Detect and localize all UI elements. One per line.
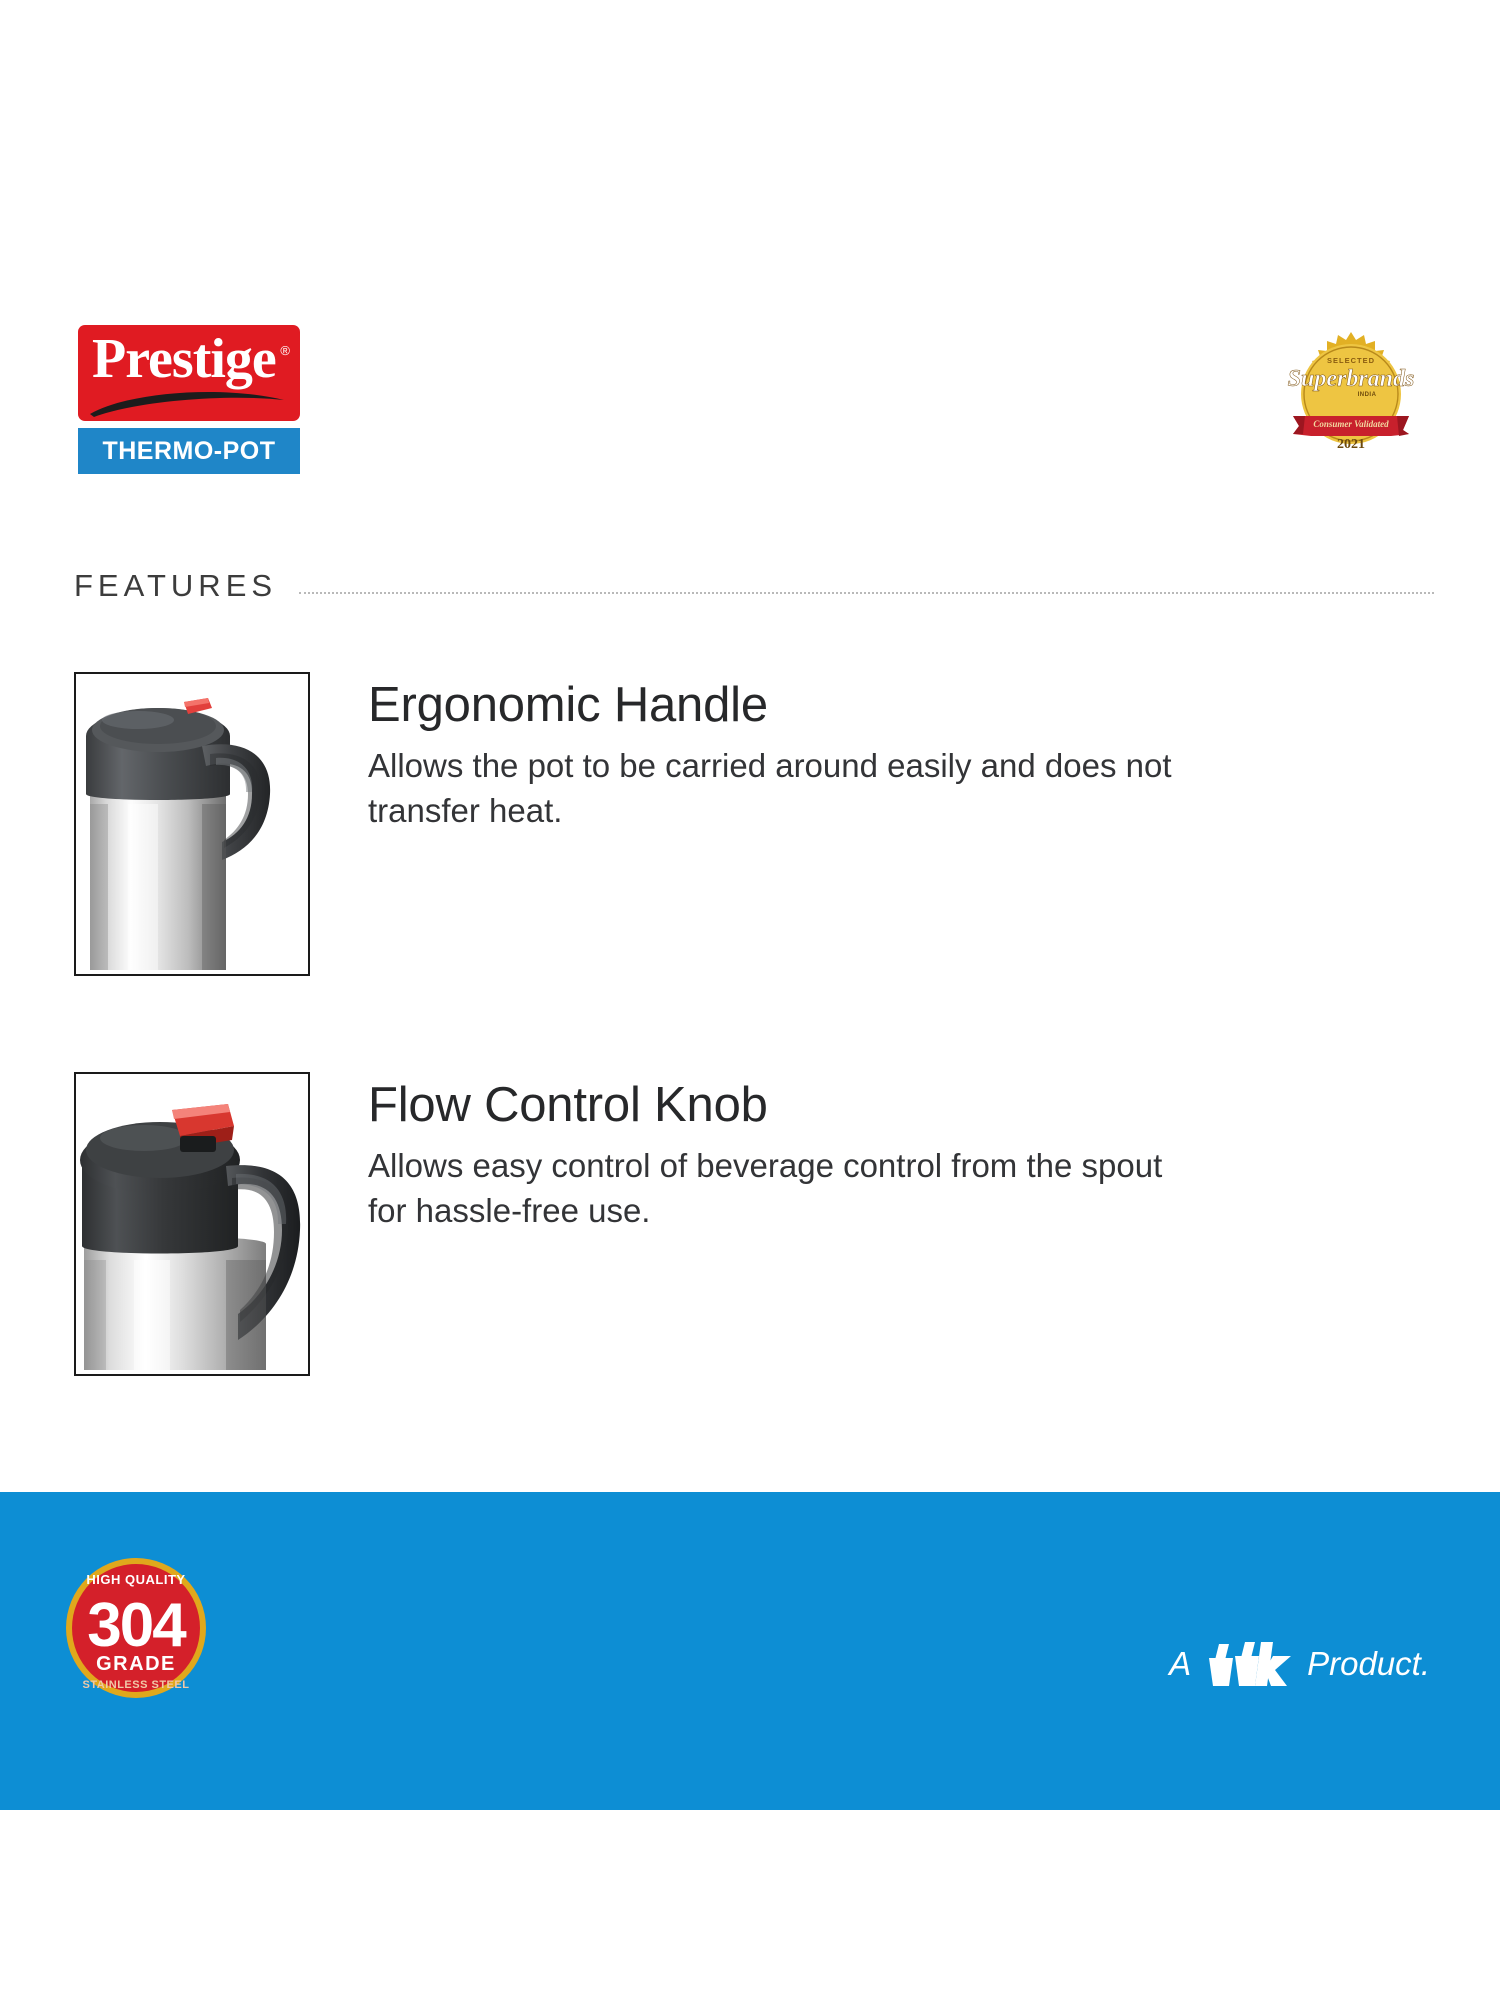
svg-text:INDIA: INDIA <box>1358 392 1377 398</box>
credit-prefix: A <box>1169 1645 1191 1683</box>
svg-text:2021: 2021 <box>1337 437 1365 452</box>
brand-sub-label: THERMO-POT <box>102 437 275 466</box>
svg-text:Superbrands: Superbrands <box>1288 366 1415 392</box>
features-title: FEATURES <box>74 568 277 604</box>
brand-wordmark: Prestige <box>92 331 276 387</box>
svg-text:Consumer Validated: Consumer Validated <box>1313 419 1389 429</box>
svg-text:HIGH QUALITY: HIGH QUALITY <box>86 1572 185 1587</box>
feature-heading: Ergonomic Handle <box>368 678 1198 733</box>
svg-text:SELECTED: SELECTED <box>1327 356 1375 365</box>
brand-swoosh-icon <box>88 384 288 418</box>
svg-text:STAINLESS STEEL: STAINLESS STEEL <box>83 1679 190 1691</box>
footer-band: HIGH QUALITY 304 GRADE STAINLESS STEEL A… <box>0 1492 1500 1810</box>
ttk-product-credit: A Product. <box>1169 1640 1430 1688</box>
features-divider <box>299 592 1434 594</box>
feature-image-ergonomic-handle <box>74 672 310 976</box>
features-section-header: FEATURES <box>74 568 1434 604</box>
feature-text-block: Ergonomic Handle Allows the pot to be ca… <box>368 672 1198 834</box>
registered-trademark-icon: ® <box>280 343 290 358</box>
ttk-logo-icon <box>1203 1640 1295 1688</box>
feature-description: Allows the pot to be carried around easi… <box>368 743 1198 834</box>
feature-item: Ergonomic Handle Allows the pot to be ca… <box>74 672 1434 976</box>
feature-description: Allows easy control of beverage control … <box>368 1143 1198 1234</box>
brand-logo-red-plate: Prestige ® <box>78 325 300 421</box>
brand-logo: Prestige ® THERMO-POT <box>78 325 300 474</box>
svg-text:GRADE: GRADE <box>96 1653 176 1675</box>
feature-text-block: Flow Control Knob Allows easy control of… <box>368 1072 1198 1234</box>
feature-heading: Flow Control Knob <box>368 1078 1198 1133</box>
brand-sub-plate: THERMO-POT <box>78 428 300 474</box>
svg-text:304: 304 <box>87 1591 187 1660</box>
grade-304-badge: HIGH QUALITY 304 GRADE STAINLESS STEEL <box>62 1554 210 1702</box>
feature-image-flow-control-knob <box>74 1072 310 1376</box>
feature-item: Flow Control Knob Allows easy control of… <box>74 1072 1434 1376</box>
credit-suffix: Product. <box>1307 1645 1430 1683</box>
superbrands-seal-badge: SELECTED Superbrands INDIA Consumer Vali… <box>1287 330 1415 458</box>
